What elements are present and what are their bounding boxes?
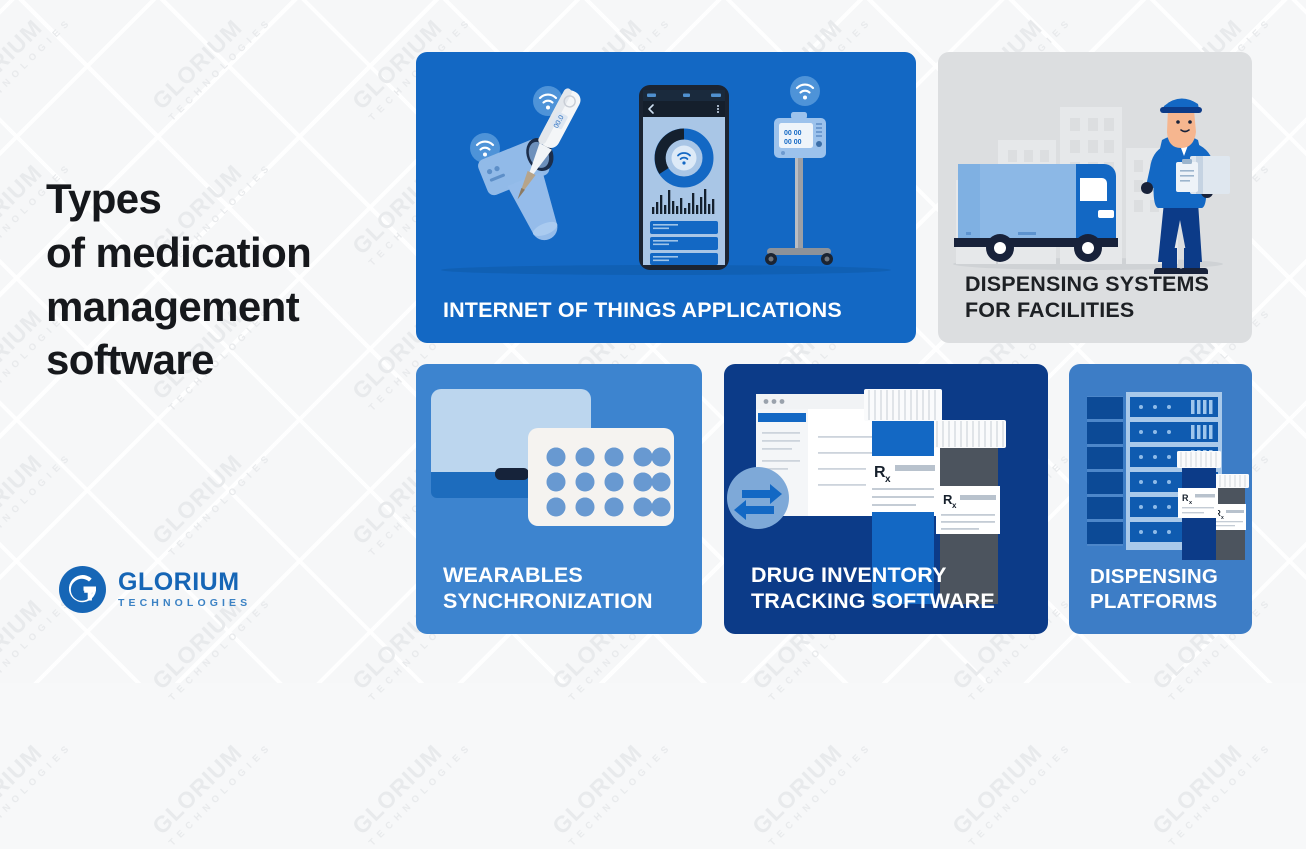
brand-tagline: TECHNOLOGIES	[118, 598, 251, 609]
watermark-brand: GLORIUM	[347, 721, 467, 841]
card-dispensing-platforms[interactable]: R x R	[1069, 364, 1252, 634]
svg-text:x: x	[1221, 515, 1224, 521]
watermark-tagline: TECHNOLOGIES	[367, 740, 475, 848]
page-title-line-1: Types	[46, 175, 161, 222]
watermark-text: GLORIUMTECHNOLOGIES	[747, 721, 875, 849]
sync-arrows-icon	[727, 467, 789, 529]
card-wearables-synchronization[interactable]: WEARABLES SYNCHRONIZATION	[416, 364, 702, 634]
watermark-brand: GLORIUM	[1147, 721, 1267, 841]
left-column: Types of medication management software …	[46, 0, 416, 683]
patient-monitor-icon: 00 00 00 00	[765, 112, 833, 265]
watermark-tagline: TECHNOLOGIES	[967, 740, 1075, 848]
watermark-brand: GLORIUM	[747, 721, 867, 841]
watermark-text: GLORIUMTECHNOLOGIES	[547, 721, 675, 849]
watermark-tagline: TECHNOLOGIES	[167, 740, 275, 848]
wifi-icon	[790, 76, 820, 106]
watermark-text: GLORIUMTECHNOLOGIES	[1147, 721, 1275, 849]
card-label-text: WEARABLES SYNCHRONIZATION	[443, 563, 653, 613]
rx-label-icon: R x	[1178, 488, 1218, 518]
watermark-tagline: TECHNOLOGIES	[0, 740, 75, 848]
card-label-dispensing-systems-for-facilities: DISPENSING SYSTEMS FOR FACILITIES	[965, 271, 1236, 323]
watermark-text: GLORIUMTECHNOLOGIES	[947, 721, 1075, 849]
page-title: Types of medication management software	[46, 172, 406, 387]
svg-text:x: x	[885, 474, 891, 485]
watermark-text: GLORIUMTECHNOLOGIES	[0, 721, 75, 849]
svg-text:R: R	[1182, 493, 1189, 503]
rx-label-icon: R x	[866, 456, 940, 512]
svg-text:00 00: 00 00	[784, 139, 802, 146]
rx-label-icon: R x	[936, 486, 1000, 534]
watermark-brand: GLORIUM	[547, 721, 667, 841]
card-label-internet-of-things-applications: INTERNET OF THINGS APPLICATIONS	[443, 297, 900, 323]
smartphone-icon	[639, 85, 729, 270]
card-internet-of-things-applications[interactable]: 00.0	[416, 52, 916, 343]
watermark-tagline: TECHNOLOGIES	[567, 740, 675, 848]
watermark-brand: GLORIUM	[0, 721, 67, 841]
card-label-dispensing-platforms: DISPENSING PLATFORMS	[1090, 564, 1236, 614]
card-dispensing-systems-for-facilities[interactable]: DISPENSING SYSTEMS FOR FACILITIES	[938, 52, 1252, 343]
svg-text:00 00: 00 00	[784, 130, 802, 137]
watermark-brand: GLORIUM	[147, 721, 267, 841]
brand-name: GLORIUM	[118, 570, 251, 595]
card-label-text: DISPENSING PLATFORMS	[1090, 565, 1218, 613]
page-title-line-3: management	[46, 283, 299, 330]
page-title-line-2: of medication	[46, 229, 311, 276]
watermark-tagline: TECHNOLOGIES	[767, 740, 875, 848]
watermark-tagline: TECHNOLOGIES	[1167, 740, 1275, 848]
page-title-line-4: software	[46, 336, 214, 383]
glorium-gt-monogram-icon	[58, 565, 107, 614]
svg-text:x: x	[952, 501, 957, 510]
blister-pack-icon	[528, 428, 674, 526]
watermark-text: GLORIUMTECHNOLOGIES	[347, 721, 475, 849]
card-drug-inventory-tracking-software[interactable]: R x	[724, 364, 1048, 634]
card-label-drug-inventory-tracking-software: DRUG INVENTORY TRACKING SOFTWARE	[751, 562, 1032, 614]
brand-logo: GLORIUM TECHNOLOGIES	[58, 565, 251, 614]
watermark-text: GLORIUMTECHNOLOGIES	[147, 721, 275, 849]
card-label-wearables-synchronization: WEARABLES SYNCHRONIZATION	[443, 562, 686, 614]
watermark-brand: GLORIUM	[947, 721, 1067, 841]
pill-bottle-icon: R x	[1177, 451, 1221, 560]
brand-logo-text: GLORIUM TECHNOLOGIES	[118, 570, 251, 609]
card-label-text: DRUG INVENTORY TRACKING SOFTWARE	[751, 563, 995, 613]
